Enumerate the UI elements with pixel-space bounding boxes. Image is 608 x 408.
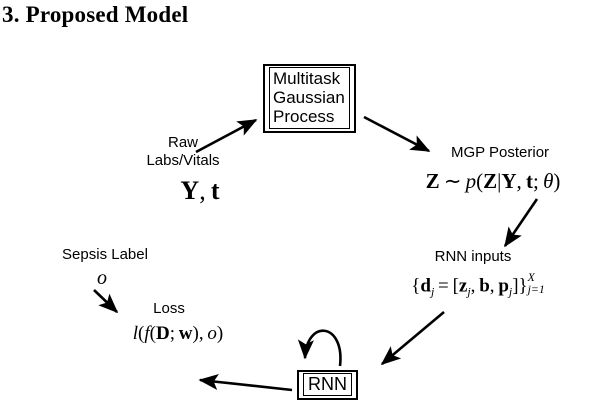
rnn-inputs-label: RNN inputs xyxy=(408,248,538,266)
arrow-sepsis-to-loss xyxy=(94,290,117,312)
raw-labs-vitals-label: Raw Labs/Vitals xyxy=(118,134,248,170)
mgp-posterior-formula: Z ∼ p(Z|Y, t; θ) xyxy=(378,168,608,194)
mgp-posterior-label: MGP Posterior xyxy=(424,144,576,162)
arrow-rnn-self-loop xyxy=(305,331,340,366)
arrow-posterior-to-rnninputs xyxy=(505,199,537,246)
rnn-box-label: RNN xyxy=(303,373,352,396)
page-title: 3. Proposed Model xyxy=(2,0,188,30)
arrow-rnn-to-loss xyxy=(200,380,292,390)
proposed-model-diagram: Multitask Gaussian Process RNN Raw Labs/… xyxy=(0,36,608,408)
arrow-rnninputs-to-rnn xyxy=(382,312,444,364)
raw-labs-vitals-line1: Raw xyxy=(118,134,248,152)
mgp-box-label: Multitask Gaussian Process xyxy=(269,67,350,129)
rnn-inputs-formula: {dj = [zj, b, pj]}Xj=1 xyxy=(352,272,604,304)
raw-labs-vitals-line2: Labs/Vitals xyxy=(118,152,248,170)
rnn-box[interactable]: RNN xyxy=(297,370,358,400)
sepsis-label-formula: o xyxy=(74,266,130,290)
arrow-mgp-to-posterior xyxy=(364,117,429,151)
mgp-box[interactable]: Multitask Gaussian Process xyxy=(263,64,356,133)
loss-label: Loss xyxy=(134,300,204,318)
loss-formula: l(f(D; w), o) xyxy=(88,322,268,346)
raw-input-formula: Y, t xyxy=(144,176,256,206)
sepsis-label-text: Sepsis Label xyxy=(30,246,180,264)
